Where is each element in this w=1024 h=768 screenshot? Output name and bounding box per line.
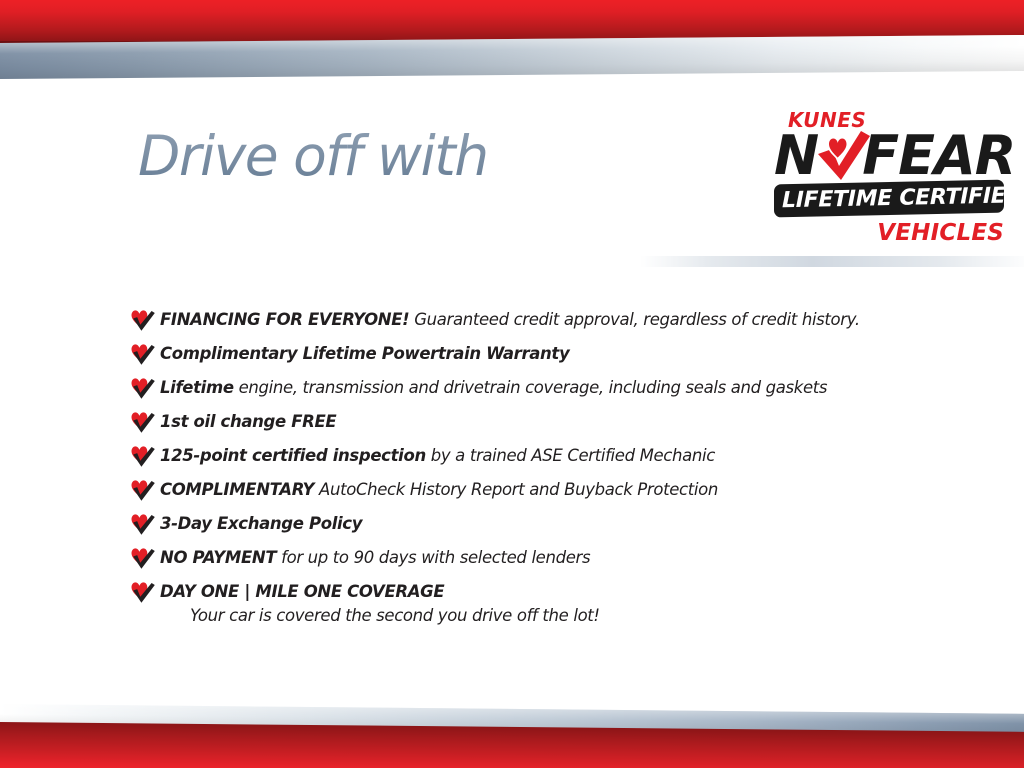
list-item: 1st oil change FREE: [130, 410, 950, 435]
list-item-detail: for up to 90 days with selected lenders: [276, 548, 590, 567]
list-item-detail: by a trained ASE Certified Mechanic: [426, 446, 715, 465]
heart-check-icon: [130, 377, 156, 401]
list-item-subtext: Your car is covered the second you drive…: [190, 604, 950, 628]
list-item-text: COMPLIMENTARY AutoCheck History Report a…: [160, 478, 950, 501]
list-item: FINANCING FOR EVERYONE! Guaranteed credi…: [130, 308, 950, 333]
list-item-emphasis: NO PAYMENT: [160, 548, 276, 567]
list-item-emphasis: FINANCING FOR EVERYONE!: [160, 310, 409, 329]
list-item-text: FINANCING FOR EVERYONE! Guaranteed credi…: [160, 308, 950, 331]
top-banner: [0, 0, 1024, 100]
list-item-emphasis: 1st oil change FREE: [160, 412, 336, 431]
list-item-text: 3-Day Exchange Policy: [160, 512, 950, 535]
logo-heart-check-mark-icon: [818, 128, 864, 182]
list-item-text: Lifetime engine, transmission and drivet…: [160, 376, 950, 399]
heart-check-icon: [130, 309, 156, 333]
benefits-list: FINANCING FOR EVERYONE! Guaranteed credi…: [130, 308, 950, 637]
logo-certified-text: LIFETIME CERTIFIED: [782, 184, 998, 215]
headline-block: Drive off with Peace of Mind: [138, 126, 758, 254]
list-item: 125-point certified inspection by a trai…: [130, 444, 950, 469]
list-item: DAY ONE | MILE ONE COVERAGEYour car is c…: [130, 580, 950, 628]
list-item-emphasis: DAY ONE | MILE ONE COVERAGE: [160, 582, 444, 601]
logo-word-vehicles: VEHICLES: [877, 220, 1004, 246]
list-item-text: 125-point certified inspection by a trai…: [160, 444, 950, 467]
list-item-emphasis: Complimentary Lifetime Powertrain Warran…: [160, 344, 569, 363]
heart-check-icon: [130, 445, 156, 469]
heart-check-icon: [130, 411, 156, 435]
headline-line-2: Peace of Mind: [192, 182, 758, 254]
list-item: 3-Day Exchange Policy: [130, 512, 950, 537]
list-item-text: Complimentary Lifetime Powertrain Warran…: [160, 342, 950, 365]
list-item: Complimentary Lifetime Powertrain Warran…: [130, 342, 950, 367]
heart-check-icon: [130, 343, 156, 367]
heart-check-icon: [130, 547, 156, 571]
heart-check-icon: [130, 479, 156, 503]
promotional-poster: Drive off with Peace of Mind KUNES NFEAR…: [0, 0, 1024, 768]
list-item-text: 1st oil change FREE: [160, 410, 950, 433]
top-gray-stripe-sheen: [0, 35, 1024, 79]
list-item-detail: Guaranteed credit approval, regardless o…: [409, 310, 859, 329]
list-item-emphasis: COMPLIMENTARY: [160, 480, 314, 499]
heart-check-icon: [130, 513, 156, 537]
list-item-detail: engine, transmission and drivetrain cove…: [234, 378, 827, 397]
bottom-banner: [0, 696, 1024, 768]
kunes-no-fear-logo: KUNES NFEAR LIFETIME CERTIFIED VEHICLES: [768, 108, 1014, 248]
list-item-detail: AutoCheck History Report and Buyback Pro…: [314, 480, 718, 499]
list-item: Lifetime engine, transmission and drivet…: [130, 376, 950, 401]
headline-divider: [640, 256, 1024, 267]
headline-line-1: Drive off with: [138, 126, 758, 186]
list-item: NO PAYMENT for up to 90 days with select…: [130, 546, 950, 571]
list-item: COMPLIMENTARY AutoCheck History Report a…: [130, 478, 950, 503]
logo-letter-n: N: [774, 128, 818, 184]
logo-word-fear: FEAR: [862, 128, 1015, 184]
heart-check-icon: [130, 581, 156, 605]
list-item-emphasis: 3-Day Exchange Policy: [160, 514, 362, 533]
logo-wordmark-no-fear: NFEAR: [774, 128, 1015, 184]
list-item-emphasis: 125-point certified inspection: [160, 446, 426, 465]
list-item-text: DAY ONE | MILE ONE COVERAGEYour car is c…: [160, 580, 950, 628]
list-item-emphasis: Lifetime: [160, 378, 234, 397]
list-item-text: NO PAYMENT for up to 90 days with select…: [160, 546, 950, 569]
